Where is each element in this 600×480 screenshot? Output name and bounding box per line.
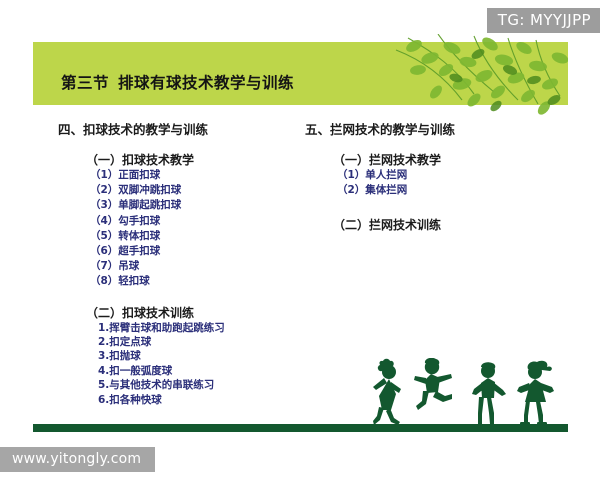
slide-title: 第三节排球有球技术教学与训练 [61,71,294,93]
list-item: （6）超手扣球 [90,244,298,259]
list-item: （2）集体拦网 [337,183,545,198]
right-section-heading: 五、拦网技术的教学与训练 [305,122,545,137]
right-training-subheading: （二）拦网技术训练 [333,218,545,233]
right-teaching-subheading: （一）拦网技术教学 [333,153,545,168]
list-item: （5）转体扣球 [90,229,298,244]
list-item: （1）正面扣球 [90,168,298,183]
list-item: （8）轻扣球 [90,274,298,289]
list-item: 1.挥臂击球和助跑起跳练习 [98,321,298,335]
ground-bar [33,424,568,432]
presentation-slide: 第三节排球有球技术教学与训练 四、扣球技术的教学与训练 （一）扣球技术教学 （1… [0,0,600,480]
list-item: 4.扣一般弧度球 [98,364,298,378]
leaf-vine-icon [378,34,568,119]
list-item: 2.扣定点球 [98,335,298,349]
list-item: （7）吊球 [90,259,298,274]
list-item: 6.扣各种快球 [98,393,298,407]
left-content-column: 四、扣球技术的教学与训练 （一）扣球技术教学 （1）正面扣球 （2）双脚冲跳扣球… [58,122,298,407]
list-item: 5.与其他技术的串联练习 [98,378,298,392]
list-item: （4）勾手扣球 [90,214,298,229]
left-training-subheading: （二）扣球技术训练 [86,306,298,321]
right-content-column: 五、拦网技术的教学与训练 （一）拦网技术教学 （1）单人拦网 （2）集体拦网 （… [305,122,545,233]
slide-title-text: 排球有球技术教学与训练 [118,74,294,92]
walking-boy-icon [472,362,506,424]
jumping-boy-icon [414,358,452,410]
telegram-watermark: TG: MYYJJPP [487,8,600,33]
list-item: （3）单脚起跳扣球 [90,198,298,213]
ponytail-girl-icon [517,361,554,425]
running-girl-icon [373,359,401,425]
children-silhouettes [360,358,575,428]
left-teaching-subheading: （一）扣球技术教学 [86,153,298,168]
site-watermark: www.yitongly.com [0,447,155,472]
left-section-heading: 四、扣球技术的教学与训练 [58,122,298,137]
slide-title-section: 第三节 [61,74,109,92]
list-item: （1）单人拦网 [337,168,545,183]
list-item: 3.扣抛球 [98,349,298,363]
list-item: （2）双脚冲跳扣球 [90,183,298,198]
